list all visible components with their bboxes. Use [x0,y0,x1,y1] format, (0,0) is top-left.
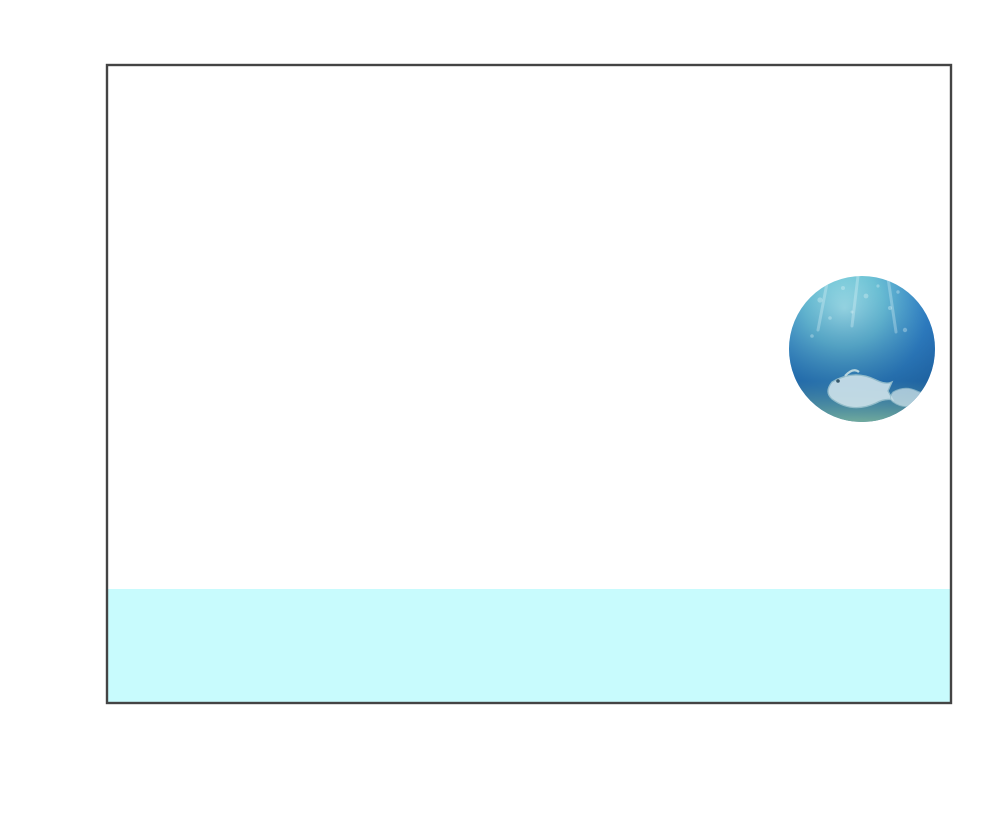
forecast-chart [0,0,1000,827]
jscope-logo [789,276,935,422]
hypoxia-band [107,589,951,703]
figure-canvas [0,0,1000,827]
